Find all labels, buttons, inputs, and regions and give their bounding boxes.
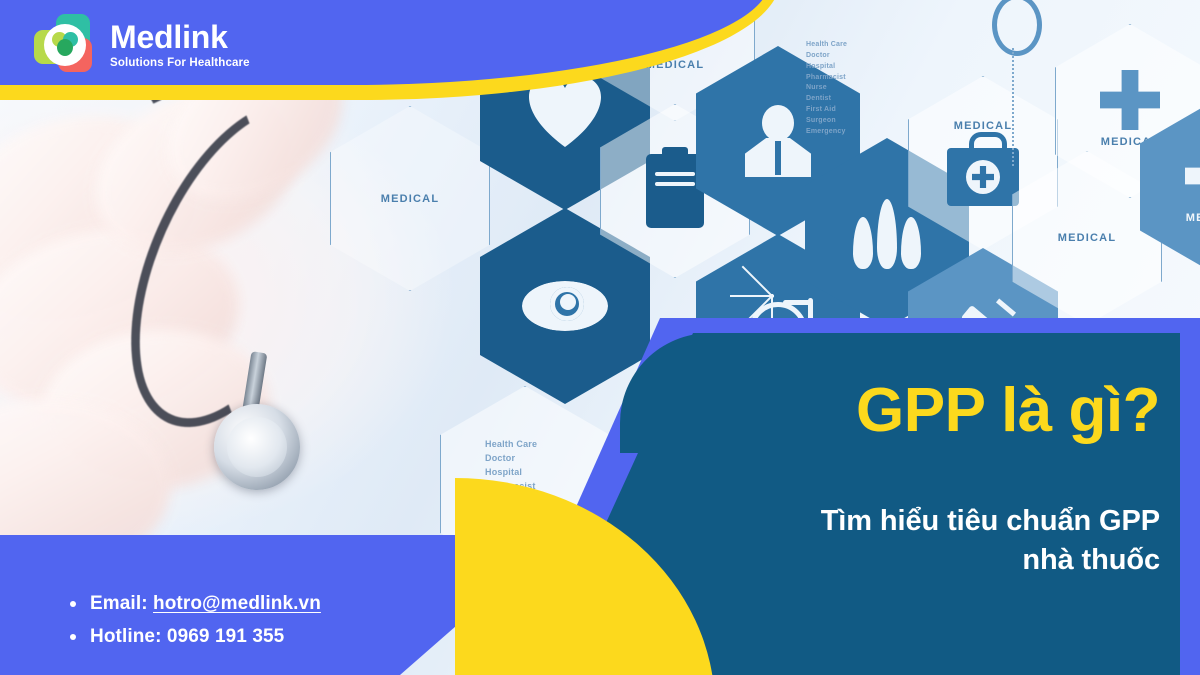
- email-label: Email:: [90, 593, 148, 614]
- hotline-label: Hotline:: [90, 626, 162, 647]
- hotline-value[interactable]: 0969 191 355: [167, 626, 284, 647]
- hexagon-label: MEDICAL: [1058, 232, 1117, 244]
- eye-icon: [522, 281, 608, 331]
- contact-hotline: Hotline: 0969 191 355: [68, 621, 321, 654]
- email-link[interactable]: hotro@medlink.vn: [153, 593, 321, 614]
- connector-dotted-line: [1012, 48, 1014, 166]
- stethoscope-chestpiece: [214, 404, 300, 490]
- cross-icon: [1185, 146, 1200, 206]
- pill-capsule-icon: [992, 0, 1042, 56]
- medlink-logo-icon: [34, 14, 96, 76]
- hexagon-label: MEDICAL: [381, 193, 440, 205]
- wordlist-professions: Health Care Doctor Hospital Pharmacist N…: [806, 40, 847, 138]
- cross-icon: [1100, 70, 1160, 130]
- contact-email: Email: hotro@medlink.vn: [68, 588, 321, 621]
- heart-leaf-icon: [52, 32, 78, 57]
- brand-tagline: Solutions For Healthcare: [110, 58, 250, 70]
- subtitle-line-2: nhà thuốc: [1022, 544, 1160, 576]
- hexagon-label: MEDICAL: [954, 120, 1013, 132]
- hexagon-label: MEDICAL: [1186, 212, 1200, 224]
- subtitle-line-1: Tìm hiểu tiêu chuẩn GPP: [821, 505, 1160, 537]
- marketing-banner: MEDICAL MEDICAL: [0, 0, 1200, 675]
- page-subtitle: Tìm hiểu tiêu chuẩn GPP nhà thuốc: [650, 502, 1160, 580]
- person-doctor-icon: [745, 105, 811, 177]
- brand-logo[interactable]: Medlink Solutions For Healthcare: [34, 14, 250, 76]
- page-title: GPP là gì?: [660, 378, 1160, 445]
- brand-name: Medlink: [110, 21, 250, 53]
- clipboard-icon: [646, 154, 704, 228]
- contact-list: Email: hotro@medlink.vn Hotline: 0969 19…: [28, 588, 321, 653]
- medical-bag-icon: [947, 148, 1019, 206]
- hexagon-medical-outline: MEDICAL: [330, 106, 490, 291]
